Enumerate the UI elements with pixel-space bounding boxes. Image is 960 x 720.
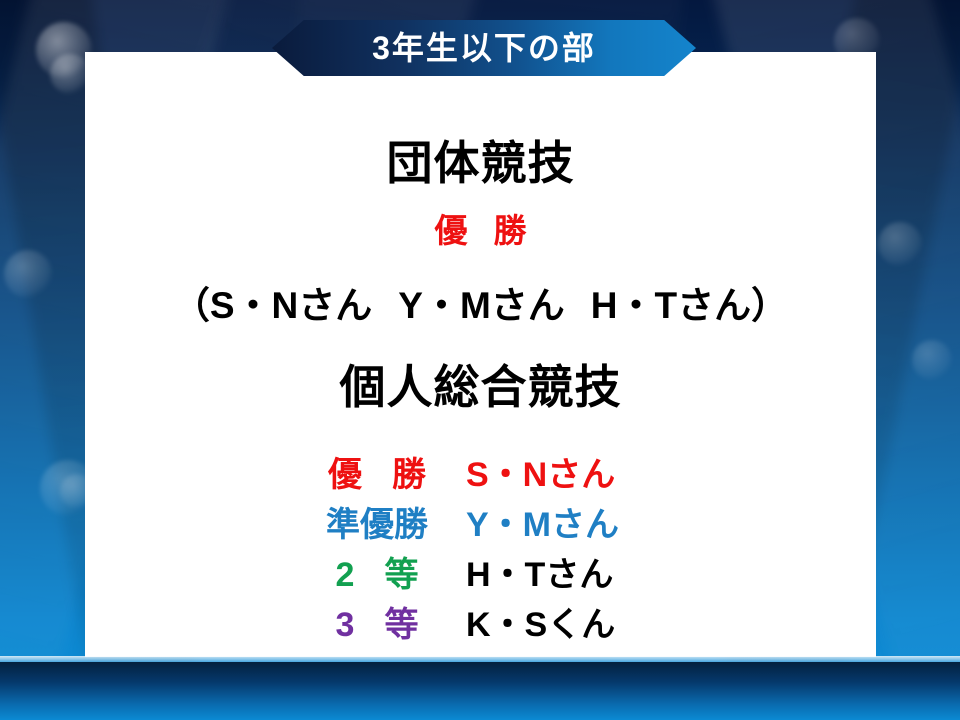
table-row: 2等 H・Tさん <box>85 550 876 600</box>
bokeh-circle <box>4 250 52 298</box>
rank-char-a: 優 <box>328 450 362 500</box>
team-rank-label: 優勝 <box>85 214 876 247</box>
rank-label: 3等 <box>288 600 466 650</box>
winner-name: S・Nさん <box>466 450 615 500</box>
table-row: 優勝 S・Nさん <box>85 450 876 500</box>
individual-results-list: 優勝 S・Nさん 準優勝 Y・Mさん 2等 H・Tさん 3等 K・Sくん <box>85 450 876 650</box>
team-member-2: Y・Mさん <box>398 285 565 326</box>
paren-open: （ <box>173 285 210 326</box>
individual-event-title: 個人総合競技 <box>85 364 876 410</box>
rank-char-a: 準優勝 <box>326 500 428 550</box>
rank-label: 優勝 <box>288 450 466 500</box>
table-row: 3等 K・Sくん <box>85 600 876 650</box>
team-member-1: S・Nさん <box>210 285 372 326</box>
team-members-line: （S・NさんY・MさんH・Tさん） <box>85 287 876 324</box>
card-content: 団体競技 優勝 （S・NさんY・MさんH・Tさん） 個人総合競技 優勝 S・Nさ… <box>85 52 876 657</box>
bokeh-circle <box>912 340 952 380</box>
rank-char-b: 勝 <box>392 450 426 500</box>
winner-name: K・Sくん <box>466 600 615 650</box>
bokeh-circle <box>36 22 92 78</box>
rank-label: 準優勝 <box>288 500 466 550</box>
team-rank-char-b: 勝 <box>494 212 527 249</box>
rank-label: 2等 <box>288 550 466 600</box>
winner-name: Y・Mさん <box>466 500 619 550</box>
winner-name: H・Tさん <box>466 550 613 600</box>
rank-char-b: 等 <box>384 550 418 600</box>
rank-char-a: 3 <box>336 600 355 650</box>
bokeh-circle <box>50 54 90 94</box>
rank-char-a: 2 <box>336 550 355 600</box>
rank-char-b: 等 <box>384 600 418 650</box>
slide-root: 3年生以下の部 団体競技 優勝 （S・NさんY・MさんH・Tさん） 個人総合競技… <box>0 0 960 720</box>
bokeh-circle <box>878 222 922 266</box>
bottom-band <box>0 662 960 720</box>
team-member-3: H・Tさん <box>591 285 751 326</box>
paren-close: ） <box>751 285 788 326</box>
team-event-title: 団体競技 <box>85 140 876 186</box>
team-rank-char-a: 優 <box>435 212 468 249</box>
table-row: 準優勝 Y・Mさん <box>85 500 876 550</box>
